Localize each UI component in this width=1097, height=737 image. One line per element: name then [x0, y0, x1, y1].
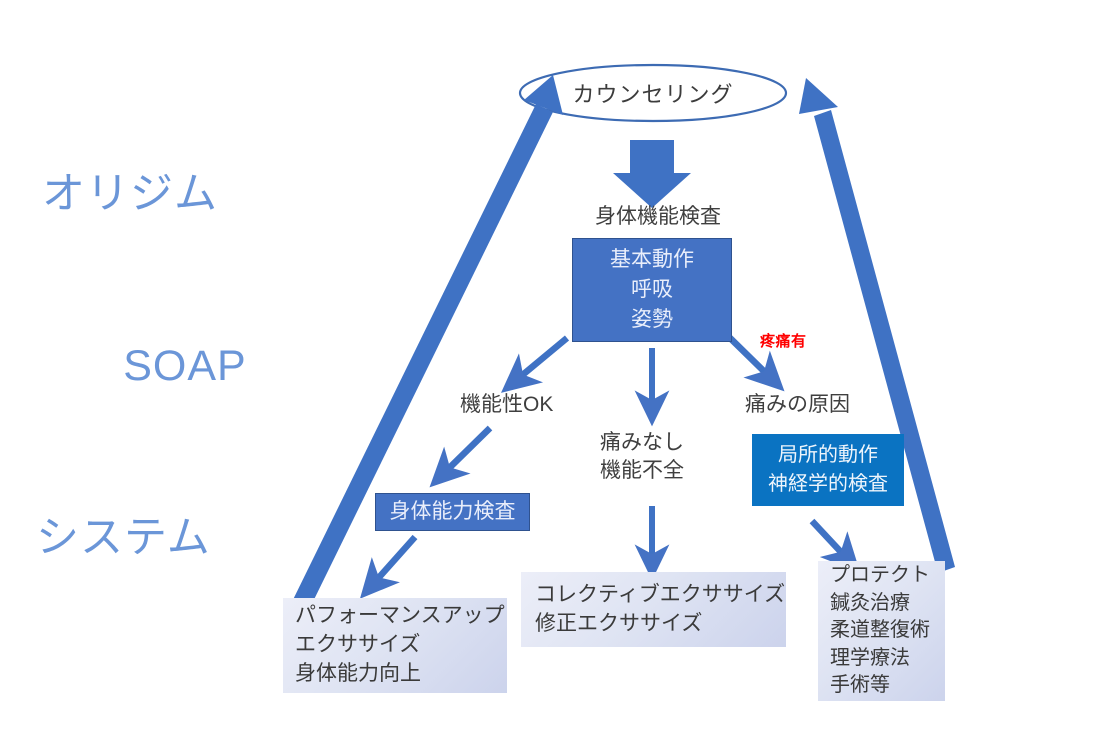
- physical-function-exam-label: 身体機能検査: [583, 203, 733, 231]
- physical-function-exam-box: 基本動作 呼吸 姿勢: [572, 238, 732, 342]
- branch-label-pain-present: 疼痛有: [760, 330, 807, 351]
- branch-label-functional-ok: 機能性OK: [460, 391, 600, 419]
- local-neuro-exam-box: 局所的動作 神経学的検査: [752, 434, 904, 506]
- slide-title: オリジム SOAP システム: [36, 52, 306, 681]
- slide-canvas: オリジム SOAP システム カウンセリング 身体機能検査 基本動作 呼吸 姿勢…: [0, 0, 1097, 737]
- title-line-3: システム: [36, 510, 306, 567]
- branch-label-no-pain-dysfunction: 痛みなし 機能不全: [600, 429, 730, 484]
- arrow-counseling-to-exam: [613, 140, 691, 208]
- branch-label-pain-cause: 痛みの原因: [745, 391, 895, 419]
- counseling-label: カウンセリング: [520, 65, 786, 121]
- arrow-left-branch-to-ability-exam: [436, 428, 490, 481]
- return-arrow-left: [286, 75, 563, 622]
- arrow-neuro-exam-to-outcome-right: [812, 521, 854, 566]
- arrow-exam-to-left-branch: [508, 338, 567, 387]
- arrow-ability-exam-to-outcome-left: [366, 537, 415, 592]
- outcome-box-performance: パフォーマンスアップ エクササイズ 身体能力向上: [283, 598, 507, 693]
- outcome-box-treatment: プロテクト 鍼灸治療 柔道整復術 理学療法 手術等: [818, 561, 945, 701]
- title-line-1: オリジム: [36, 166, 306, 223]
- outcome-box-corrective-exercise: コレクティブエクササイズ 修正エクササイズ: [521, 572, 786, 647]
- physical-ability-exam-box: 身体能力検査: [375, 493, 530, 531]
- title-line-2: SOAP: [36, 338, 306, 395]
